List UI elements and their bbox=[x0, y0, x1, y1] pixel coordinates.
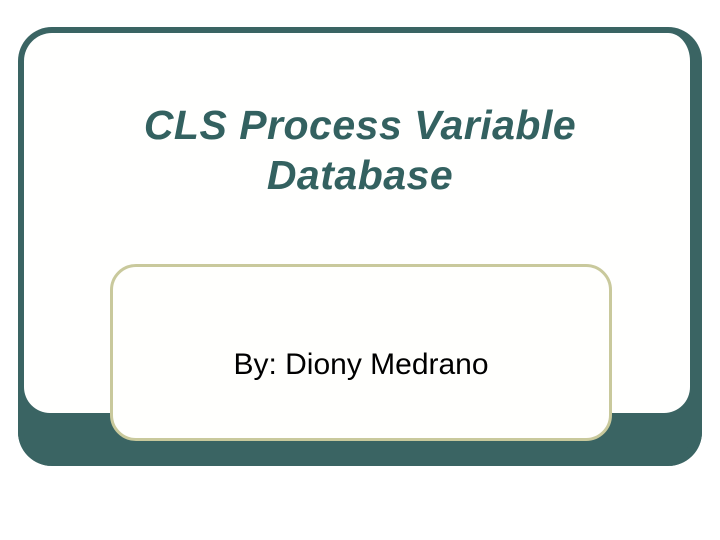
slide-title: CLS Process Variable Database bbox=[60, 100, 660, 200]
presentation-slide: CLS Process Variable Database By: Diony … bbox=[0, 0, 720, 540]
slide-subtitle: By: Diony Medrano bbox=[233, 347, 488, 383]
slide-subtitle-panel: By: Diony Medrano bbox=[110, 264, 612, 441]
